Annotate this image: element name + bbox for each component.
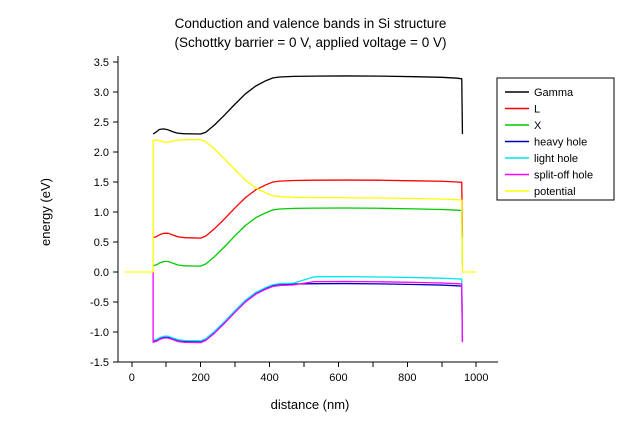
plot-area: -1.5-1.0-0.50.00.51.01.52.02.53.03.50200… [0, 0, 621, 436]
series-line-gamma [153, 76, 462, 134]
y-tick-label: 0.5 [94, 237, 109, 249]
legend-label: split-off hole [534, 170, 593, 182]
legend-label: X [534, 120, 542, 132]
y-tick-label: 2.0 [94, 147, 109, 159]
y-tick-label: 2.5 [94, 117, 109, 129]
chart-figure: Conduction and valence bands in Si struc… [0, 0, 621, 436]
x-tick-label: 600 [329, 372, 347, 384]
y-tick-label: 1.5 [94, 177, 109, 189]
y-tick-label: -1.5 [90, 357, 109, 369]
legend-label: Gamma [534, 87, 574, 99]
legend-label: light hole [534, 153, 578, 165]
series-line-light-hole [153, 277, 462, 341]
y-tick-label: 1.0 [94, 207, 109, 219]
series-line-split-off-hole [153, 272, 462, 343]
x-tick-label: 0 [129, 372, 135, 384]
series-line-heavy-hole [153, 284, 462, 342]
y-tick-label: 3.0 [94, 87, 109, 99]
y-tick-label: 0.0 [94, 267, 109, 279]
y-tick-label: -1.0 [90, 327, 109, 339]
x-tick-label: 400 [260, 372, 278, 384]
axes: -1.5-1.0-0.50.00.51.01.52.02.53.03.50200… [90, 56, 498, 384]
x-axis-label: distance (nm) [271, 397, 350, 412]
x-tick-label: 200 [191, 372, 209, 384]
y-tick-label: -0.5 [90, 297, 109, 309]
legend-label: heavy hole [534, 137, 587, 149]
data-series-group [125, 76, 476, 343]
series-line-x [153, 208, 462, 266]
series-line-potential [125, 140, 476, 272]
legend-label: potential [534, 186, 576, 198]
legend-label: L [534, 104, 540, 116]
chart-legend: GammaLXheavy holelight holesplit-off hol… [497, 78, 614, 200]
x-tick-label: 800 [398, 372, 416, 384]
y-tick-label: 3.5 [94, 57, 109, 69]
x-tick-label: 1000 [464, 372, 488, 384]
y-axis-label: energy (eV) [38, 178, 53, 246]
